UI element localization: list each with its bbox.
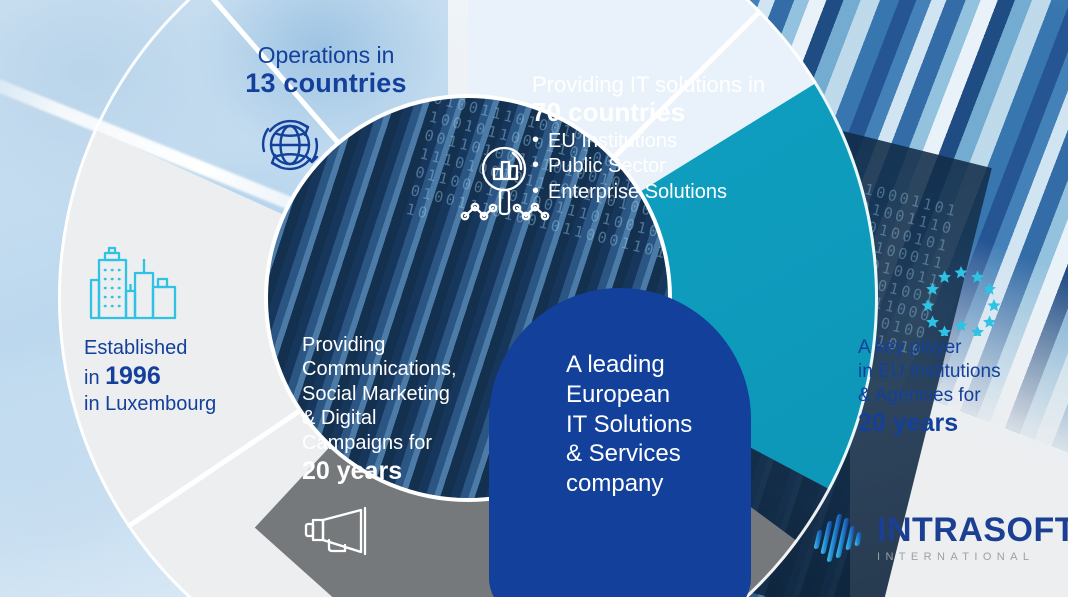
intrasoft-logo-text: INTRASOFT INTERNATIONAL: [877, 513, 1068, 563]
intrasoft-bars-logo-icon: [814, 512, 864, 564]
established-line-3: in Luxembourg: [84, 392, 304, 417]
center-line-5: company: [566, 469, 756, 499]
operations-line-1: Operations in: [196, 42, 456, 68]
established-line-2: in 1996: [84, 361, 304, 392]
communications-line-1: Providing: [302, 333, 502, 357]
operations-text-block: Operations in 13 countries: [196, 42, 456, 99]
it-solutions-line-1: Providing IT solutions in: [532, 72, 862, 98]
globe-arrows-icon: [250, 105, 330, 190]
communications-line-4: & Digital: [302, 406, 502, 430]
megaphone-icon: [303, 506, 379, 567]
intrasoft-logo-name: INTRASOFT: [877, 513, 1068, 547]
established-line-1: Established: [84, 336, 304, 361]
eu-stars-icon: [916, 264, 1006, 341]
key-player-years: 20 years: [858, 408, 1058, 439]
communications-text-block: Providing Communications, Social Marketi…: [302, 333, 502, 486]
center-message-text-block: A leading European IT Solutions & Servic…: [566, 350, 756, 499]
center-line-4: & Services: [566, 439, 756, 469]
center-line-1: A leading: [566, 350, 756, 380]
it-solutions-bullet-3: Enterprise Solutions: [532, 180, 862, 206]
communications-line-3: Social Marketing: [302, 382, 502, 406]
operations-line-2: 13 countries: [196, 68, 456, 99]
established-year: 1996: [105, 362, 161, 390]
it-solutions-bullet-1: EU Institutions: [532, 129, 862, 155]
it-solutions-text-block: Providing IT solutions in 70 countries E…: [532, 72, 862, 205]
it-solutions-bullet-list: EU Institutions Public Sector Enterprise…: [532, 129, 862, 206]
intrasoft-logo-subtitle: INTERNATIONAL: [877, 552, 1068, 563]
communications-line-5: Campaigns for: [302, 431, 502, 455]
it-solutions-bullet-2: Public Sector: [532, 154, 862, 180]
key-player-line-1: A key player: [858, 336, 1058, 360]
center-line-2: European: [566, 380, 756, 410]
communications-years: 20 years: [302, 456, 502, 487]
established-in-prefix: in: [84, 367, 105, 389]
key-player-line-3: & Agencies for: [858, 384, 1058, 408]
communications-line-2: Communications,: [302, 357, 502, 381]
city-buildings-icon: [88, 246, 178, 327]
infographic-canvas: 0100111010010110001101001110100101100011…: [0, 0, 1068, 597]
key-player-line-2: in EU Institutions: [858, 360, 1058, 384]
intrasoft-logo[interactable]: INTRASOFT INTERNATIONAL: [814, 512, 1068, 564]
established-text-block: Established in 1996 in Luxembourg: [84, 336, 304, 417]
center-line-3: IT Solutions: [566, 410, 756, 440]
it-solutions-line-2: 70 countries: [532, 97, 862, 128]
key-player-text-block: A key player in EU Institutions & Agenci…: [858, 336, 1058, 440]
